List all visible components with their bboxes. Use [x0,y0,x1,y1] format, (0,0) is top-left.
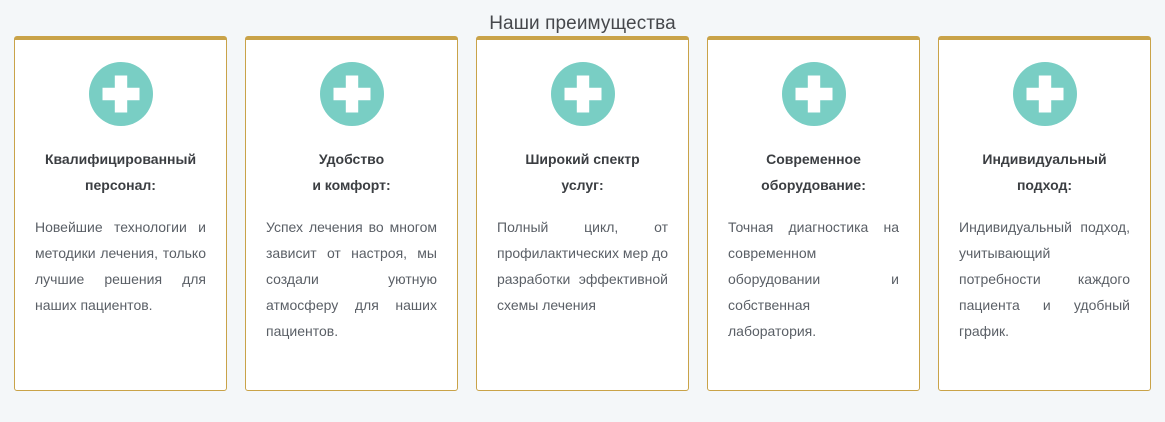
page-title: Наши преимущества [0,0,1165,36]
advantage-card[interactable]: Индивидуальный подход: Индивидуальный по… [938,36,1151,391]
advantage-card-body: Новейшие технологии и методики лечения, … [35,198,206,318]
advantage-card[interactable]: Удобство и комфорт: Успех лечения во мно… [245,36,458,391]
advantage-card-heading: Современное оборудование: [728,146,899,198]
advantage-card-heading-line1: Удобство [319,151,384,167]
advantage-card-heading: Индивидуальный подход: [959,146,1130,198]
advantage-card[interactable]: Современное оборудование: Точная диагнос… [707,36,920,391]
advantage-card-body: Полный цикл, от профилактических мер до … [497,198,668,318]
advantages-section: Наши преимущества Квалифицированный перс… [0,0,1165,422]
advantage-card-body: Индивидуальный подход, учитывающий потре… [959,198,1130,344]
plus-circle-icon [551,62,615,126]
advantage-card[interactable]: Квалифицированный персонал: Новейшие тех… [14,36,227,391]
advantage-card-heading: Удобство и комфорт: [266,146,437,198]
advantage-card-heading-line1: Широкий спектр [525,151,639,167]
plus-circle-icon [320,62,384,126]
advantage-card-heading: Квалифицированный персонал: [35,146,206,198]
plus-circle-icon [1013,62,1077,126]
advantage-cards-row: Квалифицированный персонал: Новейшие тех… [0,36,1165,391]
advantage-card-heading-line1: Квалифицированный [45,151,196,167]
advantage-card-body: Точная диагностика на современном оборуд… [728,198,899,344]
advantage-card-heading-line2: услуг: [561,177,603,193]
advantage-card-heading-line1: Индивидуальный [982,151,1106,167]
advantage-card-heading-line2: подход: [1017,177,1072,193]
advantage-card-heading-line2: персонал: [85,177,156,193]
plus-circle-icon [782,62,846,126]
advantage-card[interactable]: Широкий спектр услуг: Полный цикл, от пр… [476,36,689,391]
advantage-card-heading: Широкий спектр услуг: [497,146,668,198]
advantage-card-heading-line1: Современное [766,151,861,167]
plus-circle-icon [89,62,153,126]
advantage-card-body: Успех лечения во многом зависит от настр… [266,198,437,344]
advantage-card-heading-line2: оборудование: [761,177,866,193]
advantage-card-heading-line2: и комфорт: [312,177,390,193]
